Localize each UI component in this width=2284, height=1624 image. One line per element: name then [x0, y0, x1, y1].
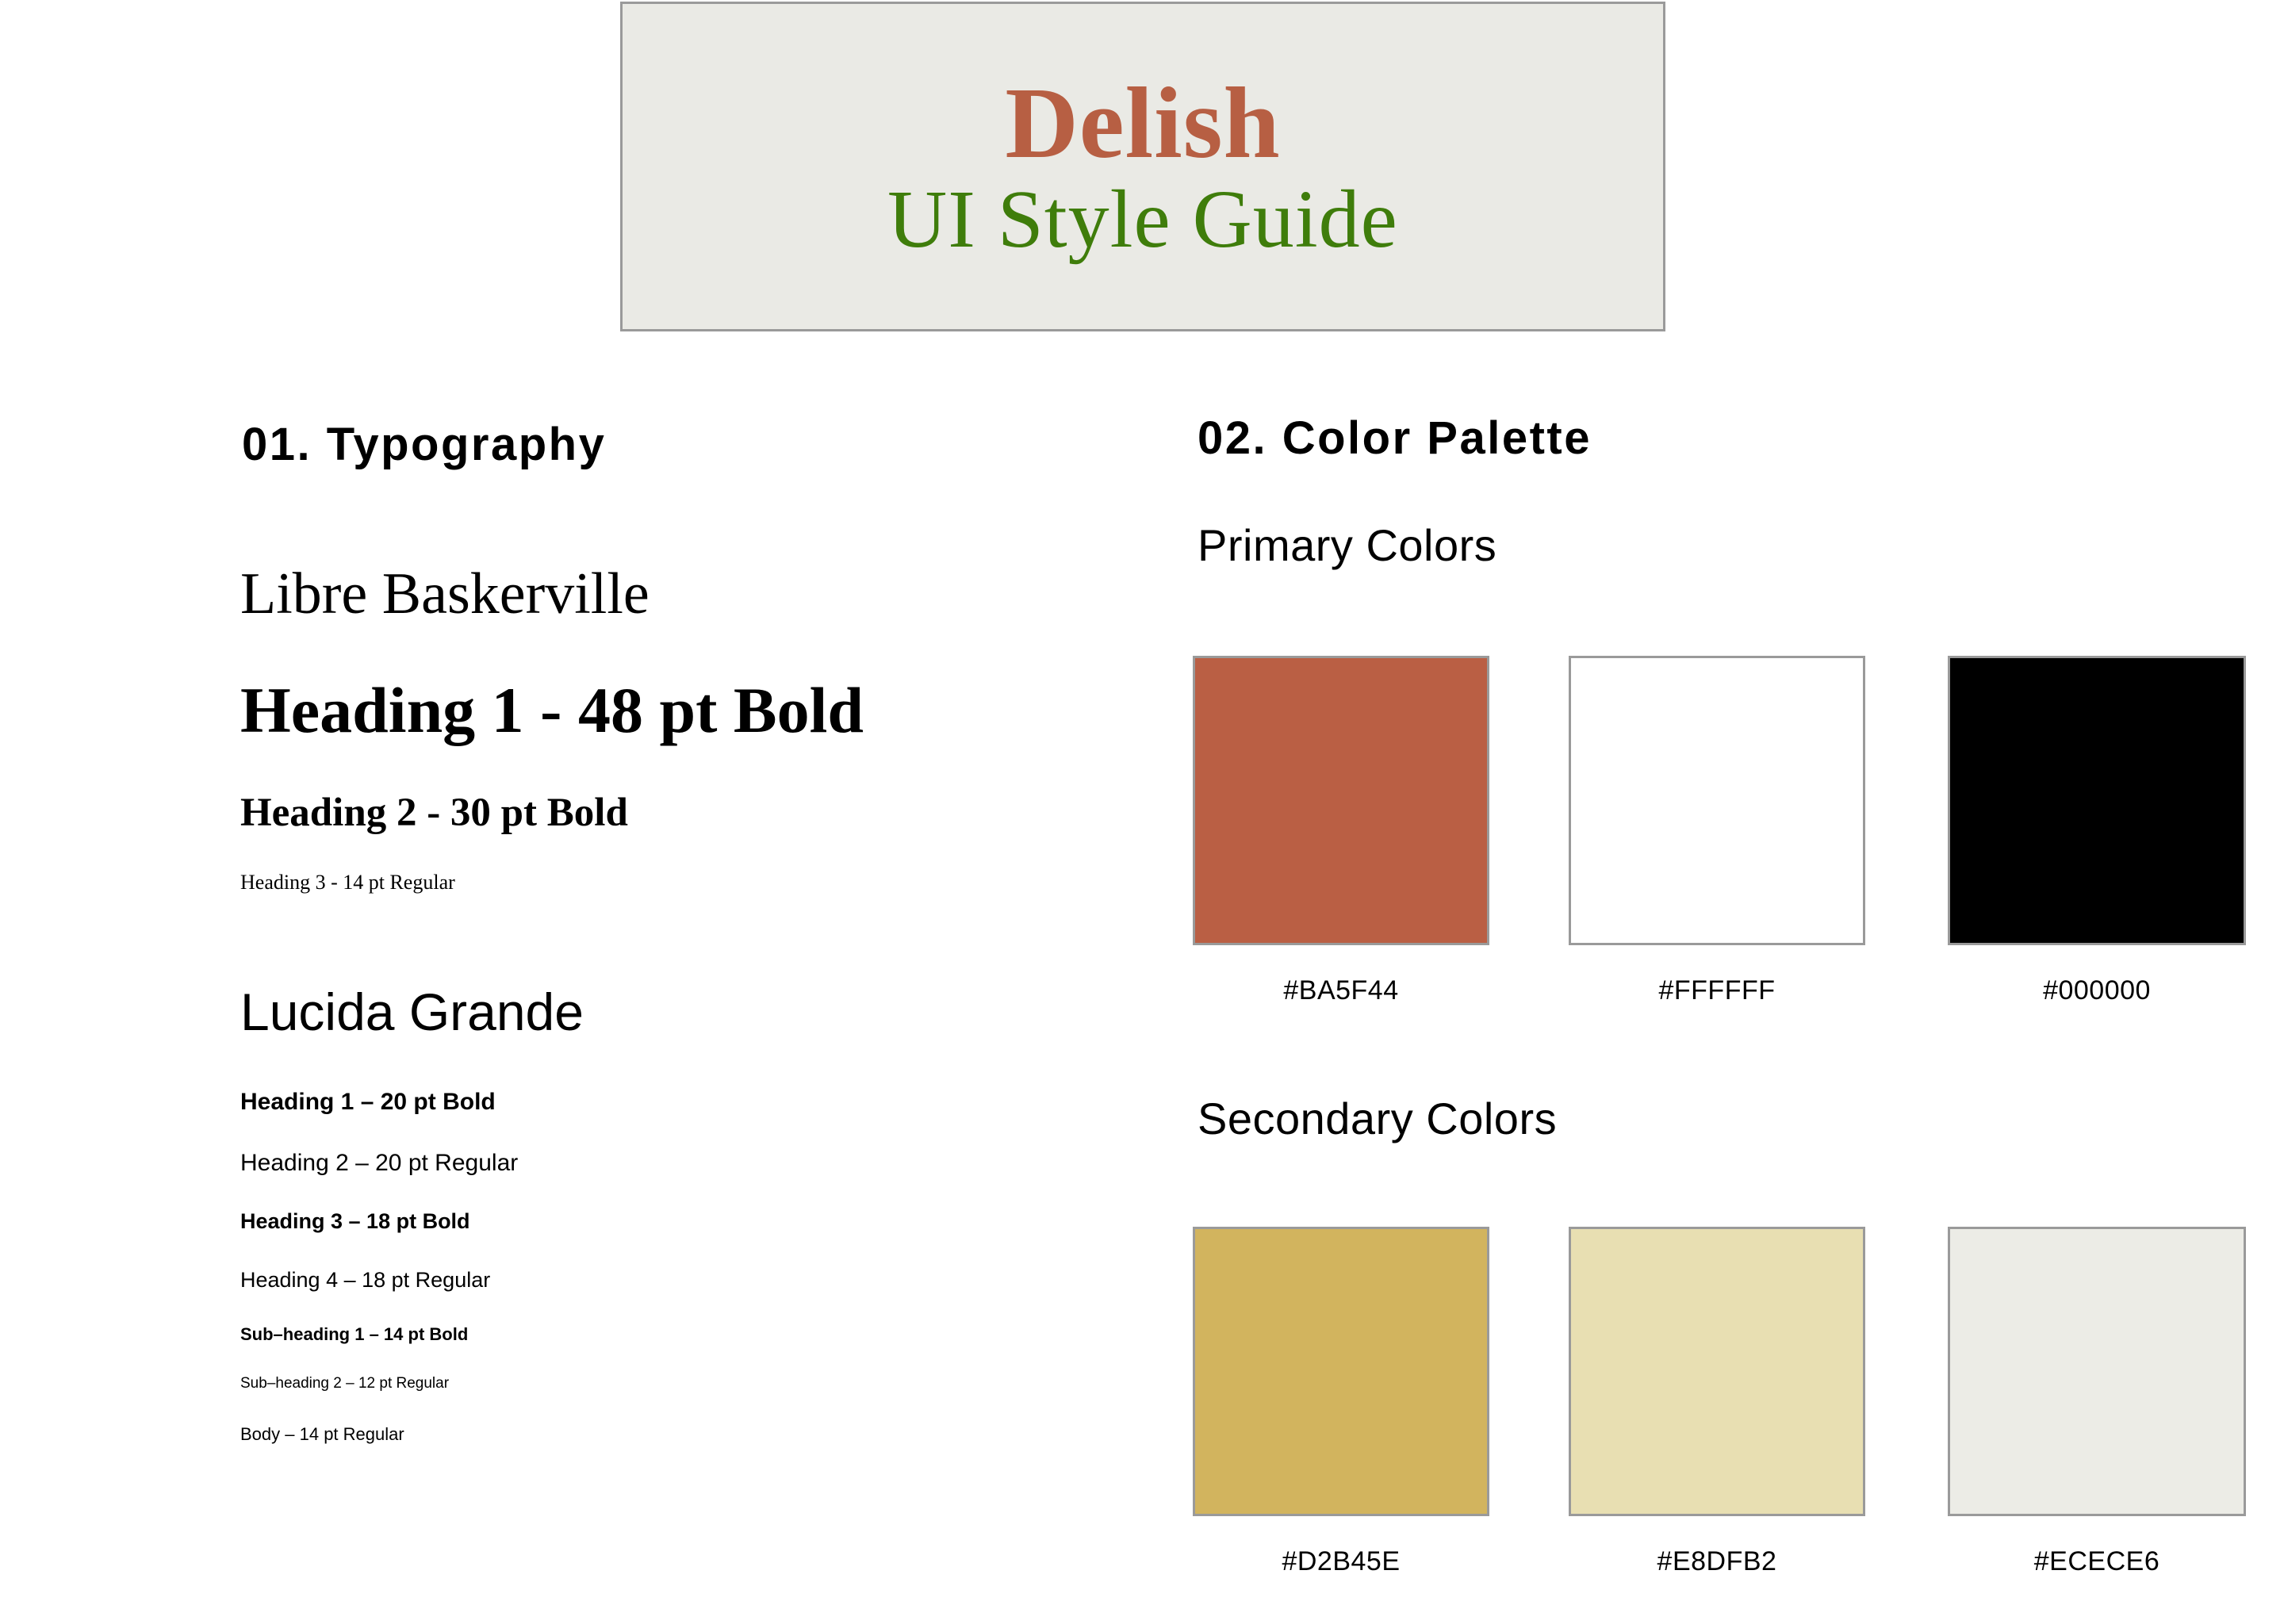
type-sample-lucida-heading-4: Heading 4 – 18 pt Regular [240, 1270, 490, 1291]
color-swatch-chip[interactable] [1948, 656, 2246, 945]
primary-colors-heading: Primary Colors [1198, 519, 1496, 571]
type-sample-lucida-subheading-2: Sub–heading 2 – 12 pt Regular [240, 1376, 449, 1391]
brand-title: Delish [1005, 72, 1280, 174]
color-swatch[interactable]: #000000 [1948, 656, 2246, 1006]
secondary-colors-swatch-row: #D2B45E #E8DFB2 #ECECE6 [1193, 1227, 2246, 1577]
font-family-name-lucida-grande: Lucida Grande [240, 986, 584, 1038]
color-swatch-chip[interactable] [1193, 1227, 1489, 1516]
guide-subtitle: UI Style Guide [887, 178, 1398, 261]
secondary-colors-heading: Secondary Colors [1198, 1093, 1557, 1144]
primary-colors-swatch-row: #BA5F44 #FFFFFF #000000 [1193, 656, 2246, 1006]
color-swatch-hex-label: #E8DFB2 [1657, 1546, 1777, 1577]
swatch-gap [1489, 1227, 1569, 1577]
font-family-name-libre-baskerville: Libre Baskerville [240, 565, 650, 623]
swatch-gap [1865, 1227, 1948, 1577]
typography-section-heading: 01. Typography [242, 418, 606, 471]
swatch-gap [1865, 656, 1948, 1006]
color-palette-section-heading: 02. Color Palette [1198, 412, 1592, 465]
color-swatch-hex-label: #000000 [2043, 975, 2151, 1006]
type-sample-libre-heading-1: Heading 1 - 48 pt Bold [240, 678, 864, 743]
color-swatch-hex-label: #FFFFFF [1658, 975, 1775, 1006]
color-swatch-chip[interactable] [1948, 1227, 2246, 1516]
type-sample-lucida-body: Body – 14 pt Regular [240, 1426, 404, 1443]
color-swatch-chip[interactable] [1569, 656, 1865, 945]
color-swatch-hex-label: #BA5F44 [1283, 975, 1398, 1006]
color-swatch[interactable]: #D2B45E [1193, 1227, 1489, 1577]
type-sample-lucida-heading-1: Heading 1 – 20 pt Bold [240, 1090, 496, 1114]
color-swatch[interactable]: #FFFFFF [1569, 656, 1865, 1006]
color-swatch-chip[interactable] [1193, 656, 1489, 945]
type-sample-libre-heading-2: Heading 2 - 30 pt Bold [240, 793, 628, 833]
color-swatch[interactable]: #ECECE6 [1948, 1227, 2246, 1577]
color-swatch[interactable]: #E8DFB2 [1569, 1227, 1865, 1577]
color-swatch-hex-label: #D2B45E [1282, 1546, 1400, 1577]
color-swatch-chip[interactable] [1569, 1227, 1865, 1516]
type-sample-lucida-heading-2: Heading 2 – 20 pt Regular [240, 1151, 518, 1175]
style-guide-header-banner: Delish UI Style Guide [620, 2, 1665, 331]
color-swatch[interactable]: #BA5F44 [1193, 656, 1489, 1006]
color-swatch-hex-label: #ECECE6 [2034, 1546, 2159, 1577]
type-sample-libre-heading-3: Heading 3 - 14 pt Regular [240, 872, 455, 893]
type-sample-lucida-subheading-1: Sub–heading 1 – 14 pt Bold [240, 1326, 468, 1343]
swatch-gap [1489, 656, 1569, 1006]
type-sample-lucida-heading-3: Heading 3 – 18 pt Bold [240, 1211, 470, 1232]
